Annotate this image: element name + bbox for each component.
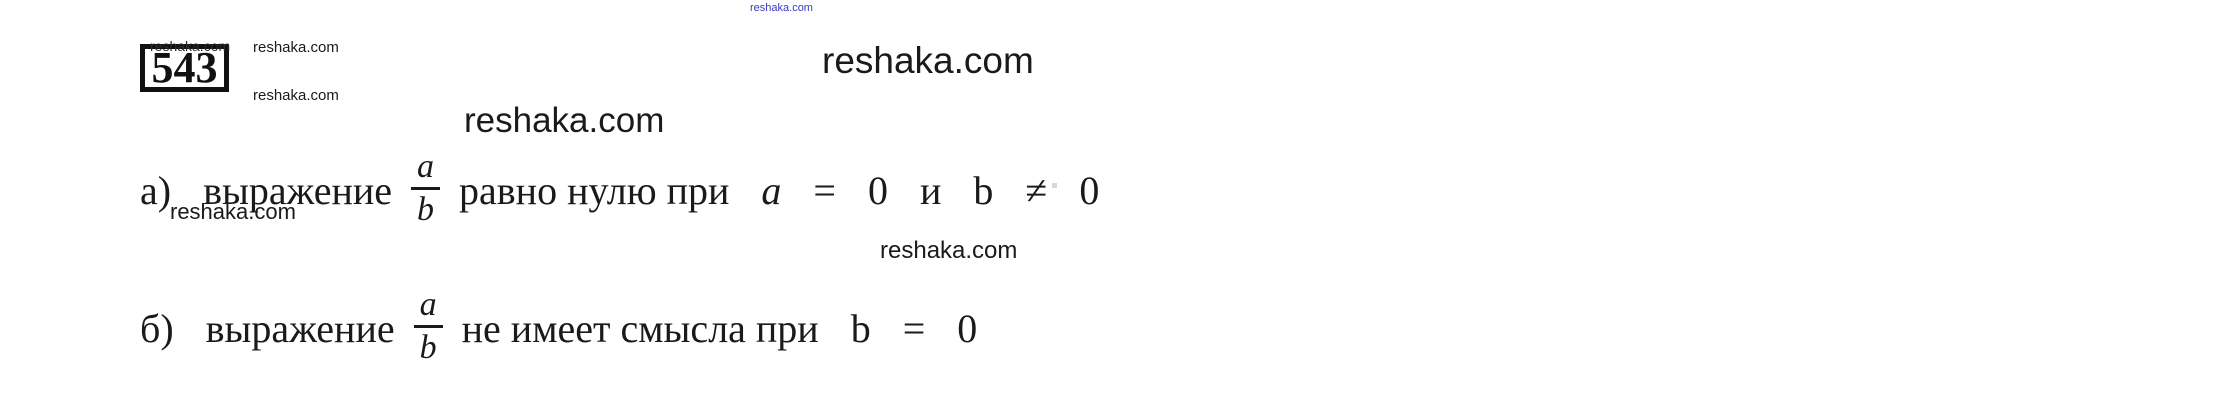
solution-text-after-a: равно нулю при — [459, 171, 729, 211]
scan-artifact-speck — [1052, 183, 1057, 188]
condition-a-relation: = — [813, 171, 836, 211]
solution-text-after-b: не имеет смысла при — [462, 309, 819, 349]
fraction-bar — [414, 325, 443, 328]
scanned-solution-page: 543 а) выражение a b равно нулю при a = … — [0, 0, 2222, 406]
watermark-large-mid-left: reshaka.com — [464, 101, 664, 141]
solution-line-a: а) выражение a b равно нулю при a = 0 и … — [140, 152, 1099, 229]
watermark-top-center: reshaka.com — [750, 2, 813, 14]
fraction-denominator: b — [411, 193, 440, 227]
condition-b-relation: ≠ — [1025, 171, 1047, 211]
solution-text-before-a: выражение — [203, 171, 392, 211]
watermark-below-task-number: reshaka.com — [253, 87, 339, 104]
fraction-numerator: a — [414, 288, 443, 322]
conjunction-and: и — [920, 171, 941, 211]
solution-text-before-b: выражение — [206, 309, 395, 349]
fraction-numerator: a — [411, 150, 440, 184]
watermark-right-of-task-number: reshaka.com — [253, 39, 339, 56]
solution-line-b: б) выражение a b не имеет смысла при b =… — [140, 290, 977, 367]
condition-a-value: 0 — [868, 171, 888, 211]
fraction-a-over-b: a b — [411, 150, 440, 227]
watermark-bottom-right: reshaka.com — [880, 237, 1017, 265]
watermark-large-top-right: reshaka.com — [822, 40, 1034, 82]
condition-b-value: 0 — [957, 309, 977, 349]
condition-b-variable: b — [973, 171, 993, 211]
task-number: 543 — [145, 46, 224, 90]
condition-a-variable: a — [761, 171, 781, 211]
condition-b-value: 0 — [1079, 171, 1099, 211]
solution-label-a: а) — [140, 171, 171, 211]
condition-b-variable: b — [851, 309, 871, 349]
solution-label-b: б) — [140, 309, 174, 349]
fraction-bar — [411, 187, 440, 190]
fraction-denominator: b — [414, 331, 443, 365]
task-number-box: 543 — [140, 44, 229, 92]
condition-b-relation: = — [903, 309, 926, 349]
fraction-a-over-b: a b — [414, 288, 443, 365]
